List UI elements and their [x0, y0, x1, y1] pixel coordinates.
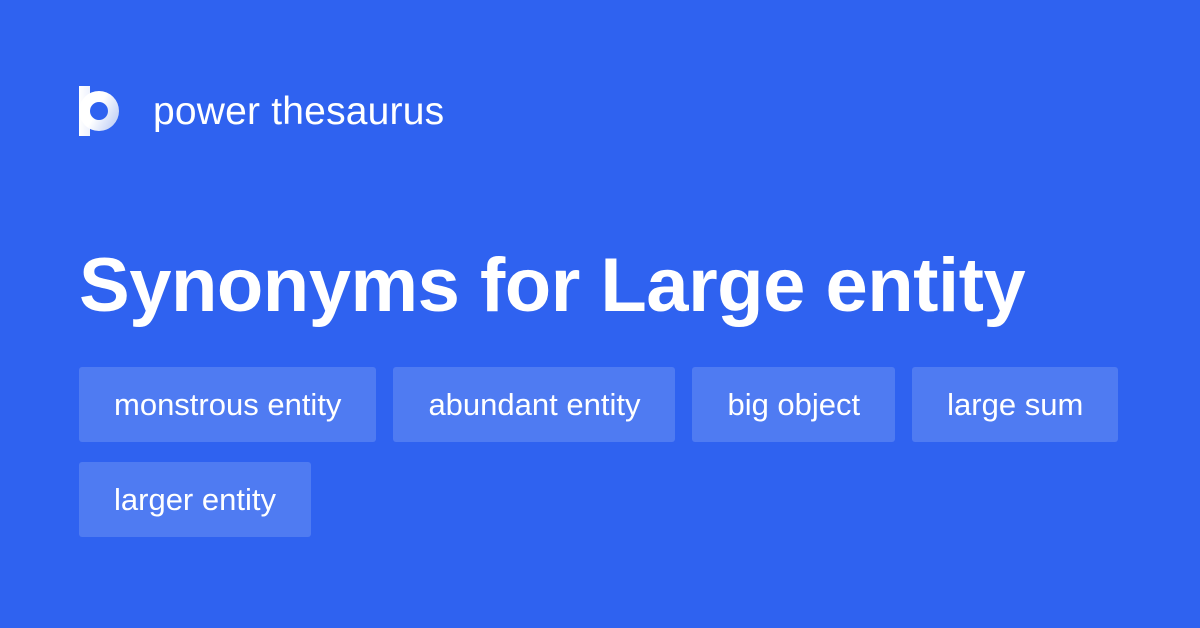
- power-thesaurus-b-logo-icon: [79, 86, 125, 136]
- synonym-chip-list: monstrous entity abundant entity big obj…: [79, 367, 1119, 537]
- synonym-chip[interactable]: large sum: [912, 367, 1118, 442]
- synonym-chip[interactable]: monstrous entity: [79, 367, 376, 442]
- brand-lockup[interactable]: power thesaurus: [79, 80, 444, 142]
- synonyms-share-card: power thesaurus Synonyms for Large entit…: [0, 0, 1200, 628]
- synonym-chip[interactable]: abundant entity: [393, 367, 675, 442]
- page-title: Synonyms for Large entity: [79, 245, 1139, 327]
- brand-name: power thesaurus: [153, 92, 444, 131]
- synonym-chip[interactable]: larger entity: [79, 462, 311, 537]
- synonym-chip[interactable]: big object: [692, 367, 895, 442]
